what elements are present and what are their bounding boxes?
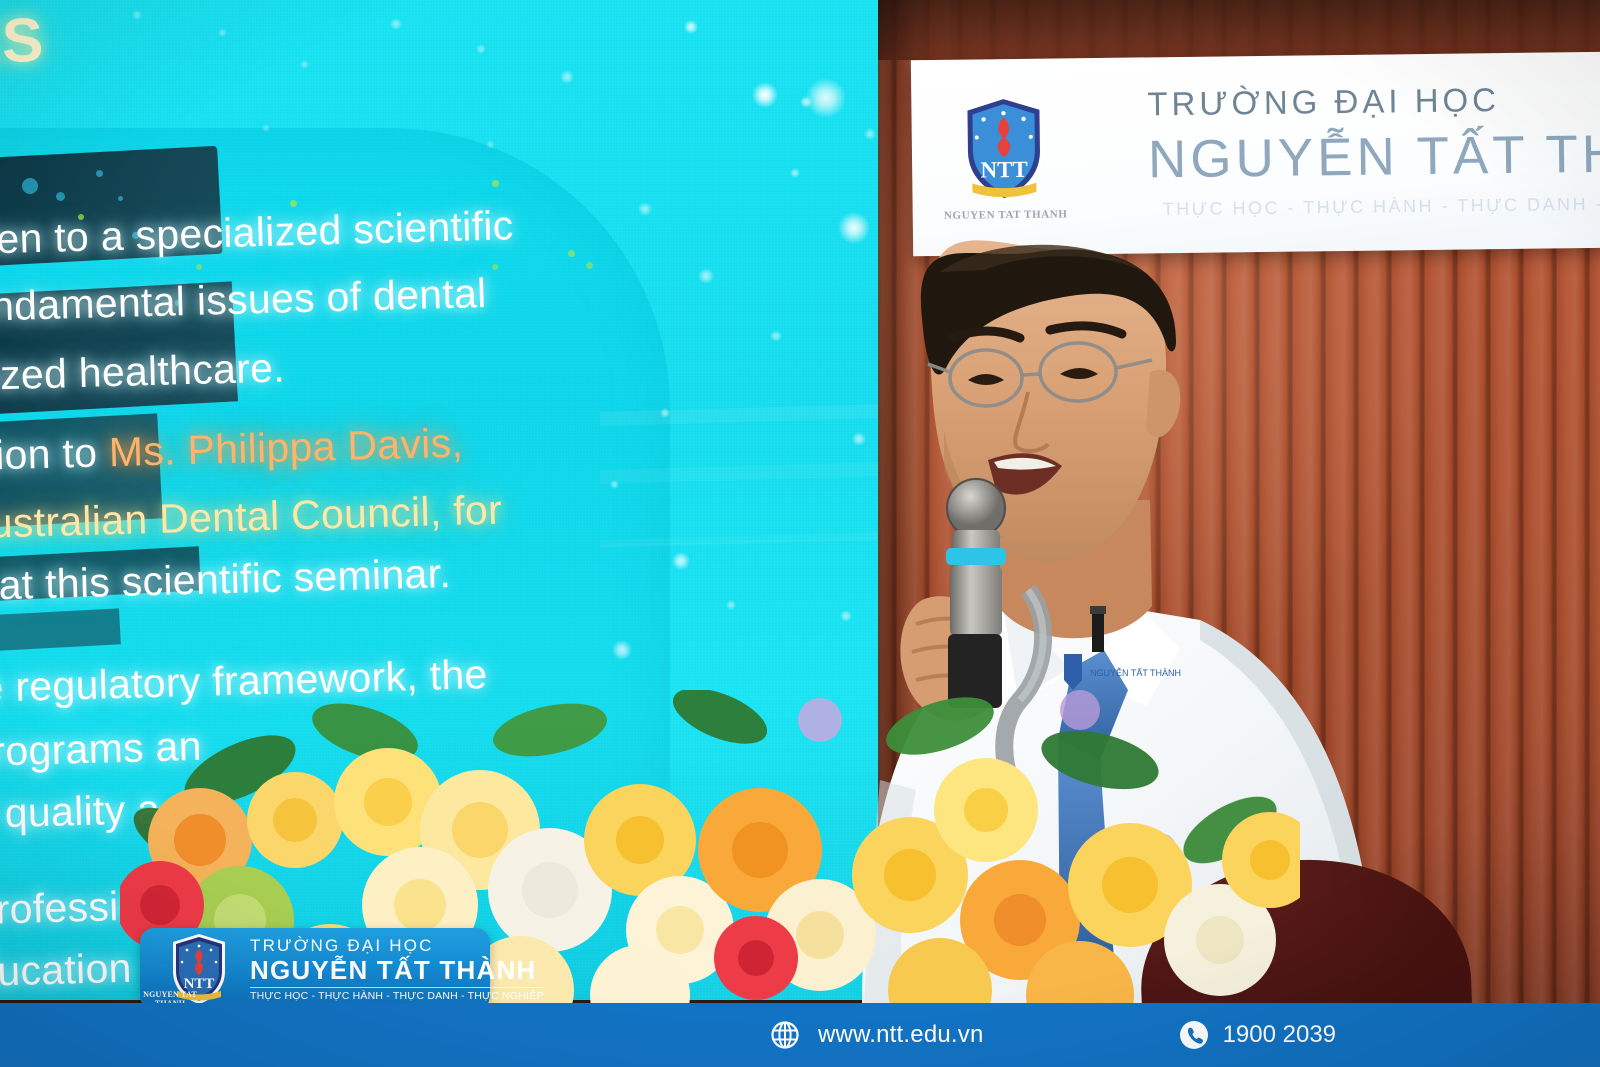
screenshot-stage: KS isten to a specialized scientific fun… [0, 0, 1600, 1067]
watermark-divider [250, 987, 544, 988]
footer-phone-group[interactable]: 1900 2039 [1179, 1020, 1336, 1050]
footer-phone-text: 1900 2039 [1223, 1021, 1336, 1049]
watermark-line-2: NGUYỄN TẤT THÀNH [250, 956, 544, 985]
watermark-tagline: THỰC HỌC - THỰC HÀNH - THỰC DANH - THỰC … [250, 990, 544, 1002]
watermark-logo-badge: NTT NGUYEN TAT THANH TRƯỜNG ĐẠI HỌC NGUY… [140, 928, 490, 1010]
globe-icon [770, 1020, 800, 1050]
mic-blue-band [946, 548, 1006, 565]
watermark-text-block: TRƯỜNG ĐẠI HỌC NGUYỄN TẤT THÀNH THỰC HỌC… [250, 936, 544, 1002]
footer-bar: www.ntt.edu.vn 1900 2039 [0, 1003, 1600, 1067]
footer-website-group[interactable]: www.ntt.edu.vn [770, 1020, 984, 1050]
watermark-line-1: TRƯỜNG ĐẠI HỌC [250, 936, 544, 956]
phone-icon [1179, 1020, 1209, 1050]
microphone [946, 479, 1006, 708]
footer-website-text: www.ntt.edu.vn [818, 1021, 984, 1049]
svg-text:NGUYỄN TẤT THÀNH: NGUYỄN TẤT THÀNH [1090, 667, 1181, 678]
